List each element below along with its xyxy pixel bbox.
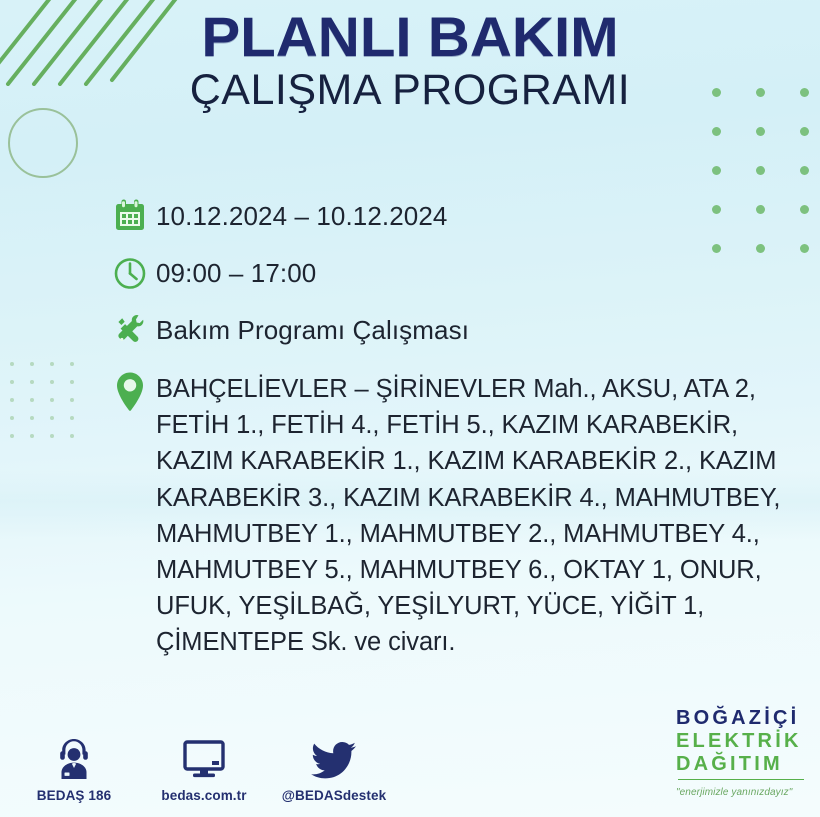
time-range-text: 09:00 – 17:00: [156, 253, 316, 290]
contact-phone-label: BEDAŞ 186: [37, 788, 111, 803]
clock-icon: [104, 253, 156, 291]
info-list: 10.12.2024 – 10.12.2024 09:00 – 17:00: [104, 196, 800, 661]
page-title: PLANLI BAKIM: [0, 8, 820, 65]
twitter-bird-icon: [311, 735, 357, 781]
calendar-icon: [104, 196, 156, 234]
bedas-logo: BOĞAZİÇİ ELEKTRİK DAĞITIM "enerjimizle y…: [676, 708, 804, 799]
poster-footer: BEDAŞ 186 bedas.com.tr: [0, 707, 820, 817]
tools-icon: [104, 310, 156, 348]
contact-twitter[interactable]: @BEDASdestek: [286, 735, 382, 803]
contact-list: BEDAŞ 186 bedas.com.tr: [26, 735, 382, 803]
location-pin-icon: [104, 367, 156, 413]
logo-slogan: "enerjimizle yanınızdayız": [676, 787, 792, 798]
date-range-text: 10.12.2024 – 10.12.2024: [156, 196, 447, 233]
planned-maintenance-poster: PLANLI BAKIM ÇALIŞMA PROGRAMI: [0, 0, 820, 817]
monitor-icon: [181, 735, 227, 781]
contact-website[interactable]: bedas.com.tr: [156, 735, 252, 803]
logo-divider: [678, 779, 804, 780]
logo-line-bogazici: BOĞAZİÇİ: [676, 708, 804, 728]
info-row-address: BAHÇELİEVLER – ŞİRİNEVLER Mah., AKSU, AT…: [104, 367, 800, 661]
info-row-time: 09:00 – 17:00: [104, 253, 800, 291]
dot-grid-left-decoration: [10, 362, 90, 452]
poster-header: PLANLI BAKIM ÇALIŞMA PROGRAMI: [0, 0, 820, 114]
info-row-work-type: Bakım Programı Çalışması: [104, 310, 800, 348]
contact-website-label: bedas.com.tr: [161, 788, 246, 803]
work-type-text: Bakım Programı Çalışması: [156, 310, 469, 347]
page-subtitle: ÇALIŞMA PROGRAMI: [0, 67, 820, 114]
contact-phone[interactable]: BEDAŞ 186: [26, 735, 122, 803]
info-row-date: 10.12.2024 – 10.12.2024: [104, 196, 800, 234]
address-text: BAHÇELİEVLER – ŞİRİNEVLER Mah., AKSU, AT…: [156, 367, 780, 661]
contact-twitter-label: @BEDASdestek: [282, 788, 386, 803]
call-center-agent-icon: [54, 735, 94, 781]
logo-line-elektrik: ELEKTRİK: [676, 731, 804, 751]
logo-line-dagitim: DAĞITIM: [676, 754, 804, 774]
circle-outline-decoration: [8, 108, 78, 178]
